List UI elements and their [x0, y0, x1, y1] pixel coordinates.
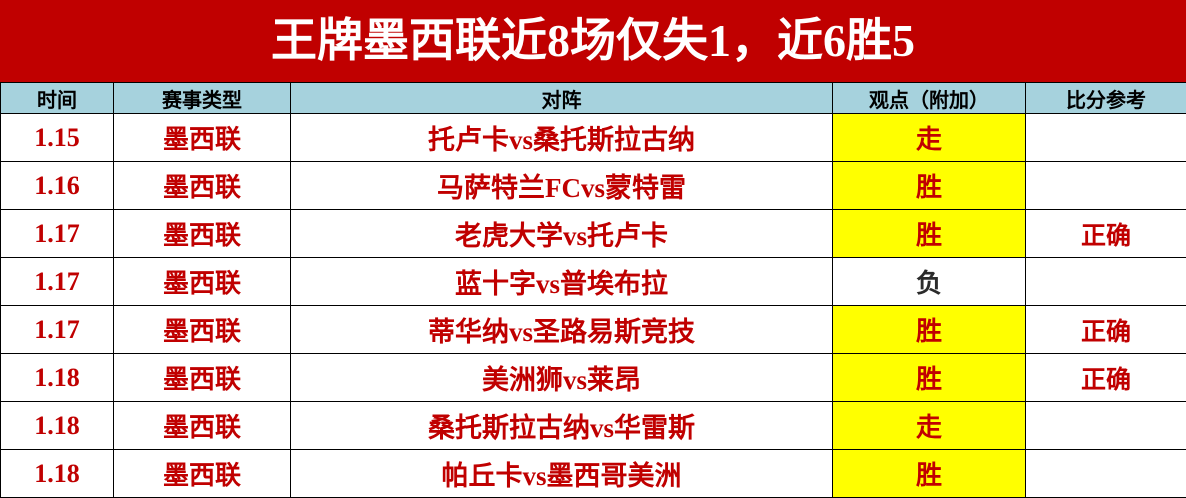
- table-row: 1.17墨西联蒂华纳vs圣路易斯竞技胜正确: [1, 306, 1186, 354]
- table-row: 1.17墨西联蓝十字vs普埃布拉负: [1, 258, 1186, 306]
- cell-league: 墨西联: [114, 306, 291, 354]
- cell-view: 胜: [833, 354, 1026, 402]
- cell-time: 1.16: [1, 162, 114, 210]
- cell-view: 胜: [833, 306, 1026, 354]
- table-row: 1.17墨西联老虎大学vs托卢卡胜正确: [1, 210, 1186, 258]
- column-header-match: 对阵: [291, 83, 833, 114]
- cell-view: 走: [833, 114, 1026, 162]
- cell-match: 蒂华纳vs圣路易斯竞技: [291, 306, 833, 354]
- table-row: 1.18墨西联桑托斯拉古纳vs华雷斯走: [1, 402, 1186, 450]
- cell-time: 1.15: [1, 114, 114, 162]
- table-body: 1.15墨西联托卢卡vs桑托斯拉古纳走1.16墨西联马萨特兰FCvs蒙特雷胜1.…: [1, 114, 1186, 498]
- column-header-score: 比分参考: [1026, 83, 1186, 114]
- banner: 王牌墨西联近8场仅失1，近6胜5: [0, 0, 1186, 82]
- cell-match: 马萨特兰FCvs蒙特雷: [291, 162, 833, 210]
- cell-score: [1026, 114, 1186, 162]
- table-header-row: 时间 赛事类型 对阵 观点（附加） 比分参考: [1, 83, 1186, 114]
- banner-title: 王牌墨西联近8场仅失1，近6胜5: [271, 18, 915, 64]
- cell-league: 墨西联: [114, 114, 291, 162]
- column-header-view: 观点（附加）: [833, 83, 1026, 114]
- cell-time: 1.18: [1, 402, 114, 450]
- cell-league: 墨西联: [114, 258, 291, 306]
- cell-league: 墨西联: [114, 402, 291, 450]
- cell-league: 墨西联: [114, 162, 291, 210]
- cell-score: 正确: [1026, 354, 1186, 402]
- cell-match: 老虎大学vs托卢卡: [291, 210, 833, 258]
- column-header-league: 赛事类型: [114, 83, 291, 114]
- predictions-table: 时间 赛事类型 对阵 观点（附加） 比分参考 1.15墨西联托卢卡vs桑托斯拉古…: [0, 82, 1186, 498]
- cell-match: 帕丘卡vs墨西哥美洲: [291, 450, 833, 498]
- column-header-time: 时间: [1, 83, 114, 114]
- cell-match: 桑托斯拉古纳vs华雷斯: [291, 402, 833, 450]
- cell-time: 1.17: [1, 210, 114, 258]
- cell-time: 1.18: [1, 450, 114, 498]
- cell-league: 墨西联: [114, 354, 291, 402]
- cell-time: 1.18: [1, 354, 114, 402]
- cell-view: 走: [833, 402, 1026, 450]
- cell-score: 正确: [1026, 306, 1186, 354]
- table-row: 1.18墨西联帕丘卡vs墨西哥美洲胜: [1, 450, 1186, 498]
- cell-view: 负: [833, 258, 1026, 306]
- cell-score: [1026, 402, 1186, 450]
- cell-league: 墨西联: [114, 210, 291, 258]
- cell-view: 胜: [833, 210, 1026, 258]
- table-row: 1.16墨西联马萨特兰FCvs蒙特雷胜: [1, 162, 1186, 210]
- cell-view: 胜: [833, 162, 1026, 210]
- table-row: 1.18墨西联美洲狮vs莱昂胜正确: [1, 354, 1186, 402]
- prediction-sheet: 王牌墨西联近8场仅失1，近6胜5 时间 赛事类型 对阵 观点（附加） 比分参考 …: [0, 0, 1186, 492]
- cell-score: [1026, 450, 1186, 498]
- cell-score: [1026, 162, 1186, 210]
- cell-view: 胜: [833, 450, 1026, 498]
- cell-match: 蓝十字vs普埃布拉: [291, 258, 833, 306]
- cell-match: 托卢卡vs桑托斯拉古纳: [291, 114, 833, 162]
- cell-time: 1.17: [1, 306, 114, 354]
- cell-score: [1026, 258, 1186, 306]
- cell-league: 墨西联: [114, 450, 291, 498]
- cell-match: 美洲狮vs莱昂: [291, 354, 833, 402]
- table-header: 时间 赛事类型 对阵 观点（附加） 比分参考: [1, 83, 1186, 114]
- cell-time: 1.17: [1, 258, 114, 306]
- table-row: 1.15墨西联托卢卡vs桑托斯拉古纳走: [1, 114, 1186, 162]
- cell-score: 正确: [1026, 210, 1186, 258]
